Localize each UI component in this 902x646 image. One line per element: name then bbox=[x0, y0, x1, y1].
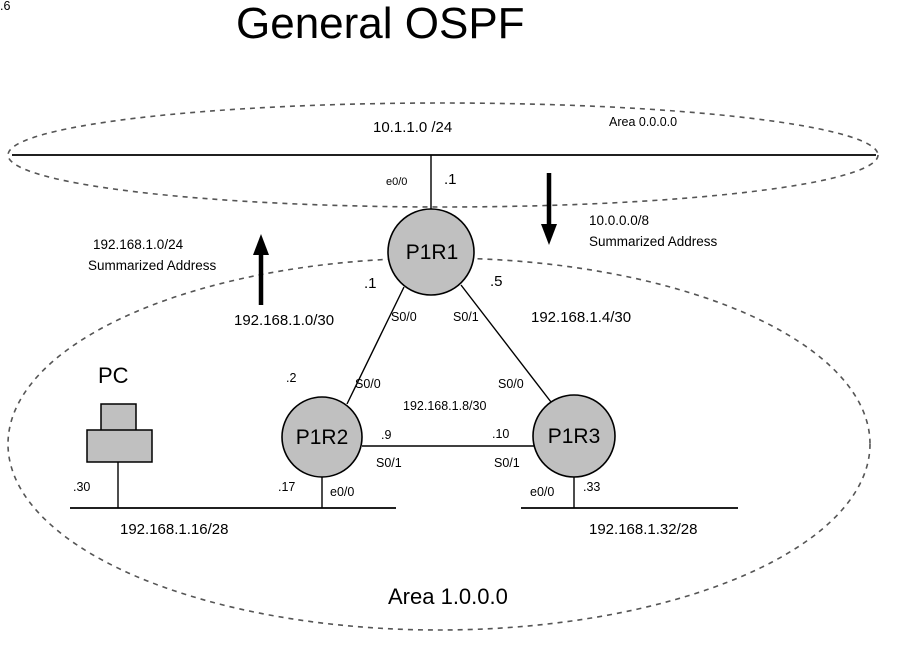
summarization-up-line1: 192.168.1.0/24 bbox=[93, 238, 183, 252]
r2-lan-network-label: 192.168.1.16/28 bbox=[120, 522, 228, 537]
pc-label: PC bbox=[98, 365, 129, 387]
area-backbone-label: Area 0.0.0.0 bbox=[609, 116, 677, 129]
r1-r2-r2-interface-label: S0/0 bbox=[355, 378, 381, 391]
router-p1r1-label: P1R1 bbox=[389, 241, 475, 265]
diagram-canvas bbox=[0, 0, 902, 646]
r2-lan-address-label: .17 bbox=[278, 481, 295, 494]
area-one-label: Area 1.0.0.0 bbox=[388, 586, 508, 608]
summarization-down-line1: 10.0.0.0/8 bbox=[589, 214, 649, 228]
r3-lan-address-label: .33 bbox=[583, 481, 600, 494]
r1-lan-interface-label: e0/0 bbox=[386, 177, 407, 188]
ospf-network-diagram: General OSPF 10.1.1.0 /24 Area 0.0.0.0 e… bbox=[0, 0, 902, 646]
r2-r3-r3-interface-label: S0/1 bbox=[494, 457, 520, 470]
r1-r2-r1-interface-label: S0/0 bbox=[391, 311, 417, 324]
r2-r3-network-label: 192.168.1.8/30 bbox=[403, 400, 486, 413]
r1-r2-network-label: 192.168.1.0/30 bbox=[234, 313, 334, 328]
summarization-down-line2: Summarized Address bbox=[589, 235, 717, 249]
r2-r3-r3-address-label: .10 bbox=[492, 428, 509, 441]
summarization-arrow-up bbox=[253, 234, 269, 305]
router-p1r2-label: P1R2 bbox=[282, 426, 362, 450]
r1-lan-address-label: .1 bbox=[444, 172, 457, 187]
r3-lan-network-label: 192.168.1.32/28 bbox=[589, 522, 697, 537]
r2-r3-r2-interface-label: S0/1 bbox=[376, 457, 402, 470]
r2-lan-interface-label: e0/0 bbox=[330, 486, 354, 499]
summarization-arrow-down bbox=[541, 173, 557, 245]
r3-lan-interface-label: e0/0 bbox=[530, 486, 554, 499]
pc-icon[interactable] bbox=[87, 404, 152, 462]
r2-r3-r2-address-label: .9 bbox=[381, 429, 391, 442]
page-title: General OSPF bbox=[236, 2, 525, 46]
pc-address-label: .30 bbox=[73, 481, 90, 494]
r1-r2-r1-address-label: .1 bbox=[364, 276, 377, 291]
backbone-network-label: 10.1.1.0 /24 bbox=[373, 120, 452, 135]
router-p1r3-label: P1R3 bbox=[533, 425, 615, 449]
r1-r2-r2-address-label: .2 bbox=[286, 372, 296, 385]
r1-r3-r3-address-label: .6 bbox=[0, 0, 10, 13]
r1-r3-network-label: 192.168.1.4/30 bbox=[531, 310, 631, 325]
summarization-up-line2: Summarized Address bbox=[88, 259, 216, 273]
r1-r3-r1-interface-label: S0/1 bbox=[453, 311, 479, 324]
r1-r3-r3-interface-label: S0/0 bbox=[498, 378, 524, 391]
r1-r3-r1-address-label: .5 bbox=[490, 274, 503, 289]
